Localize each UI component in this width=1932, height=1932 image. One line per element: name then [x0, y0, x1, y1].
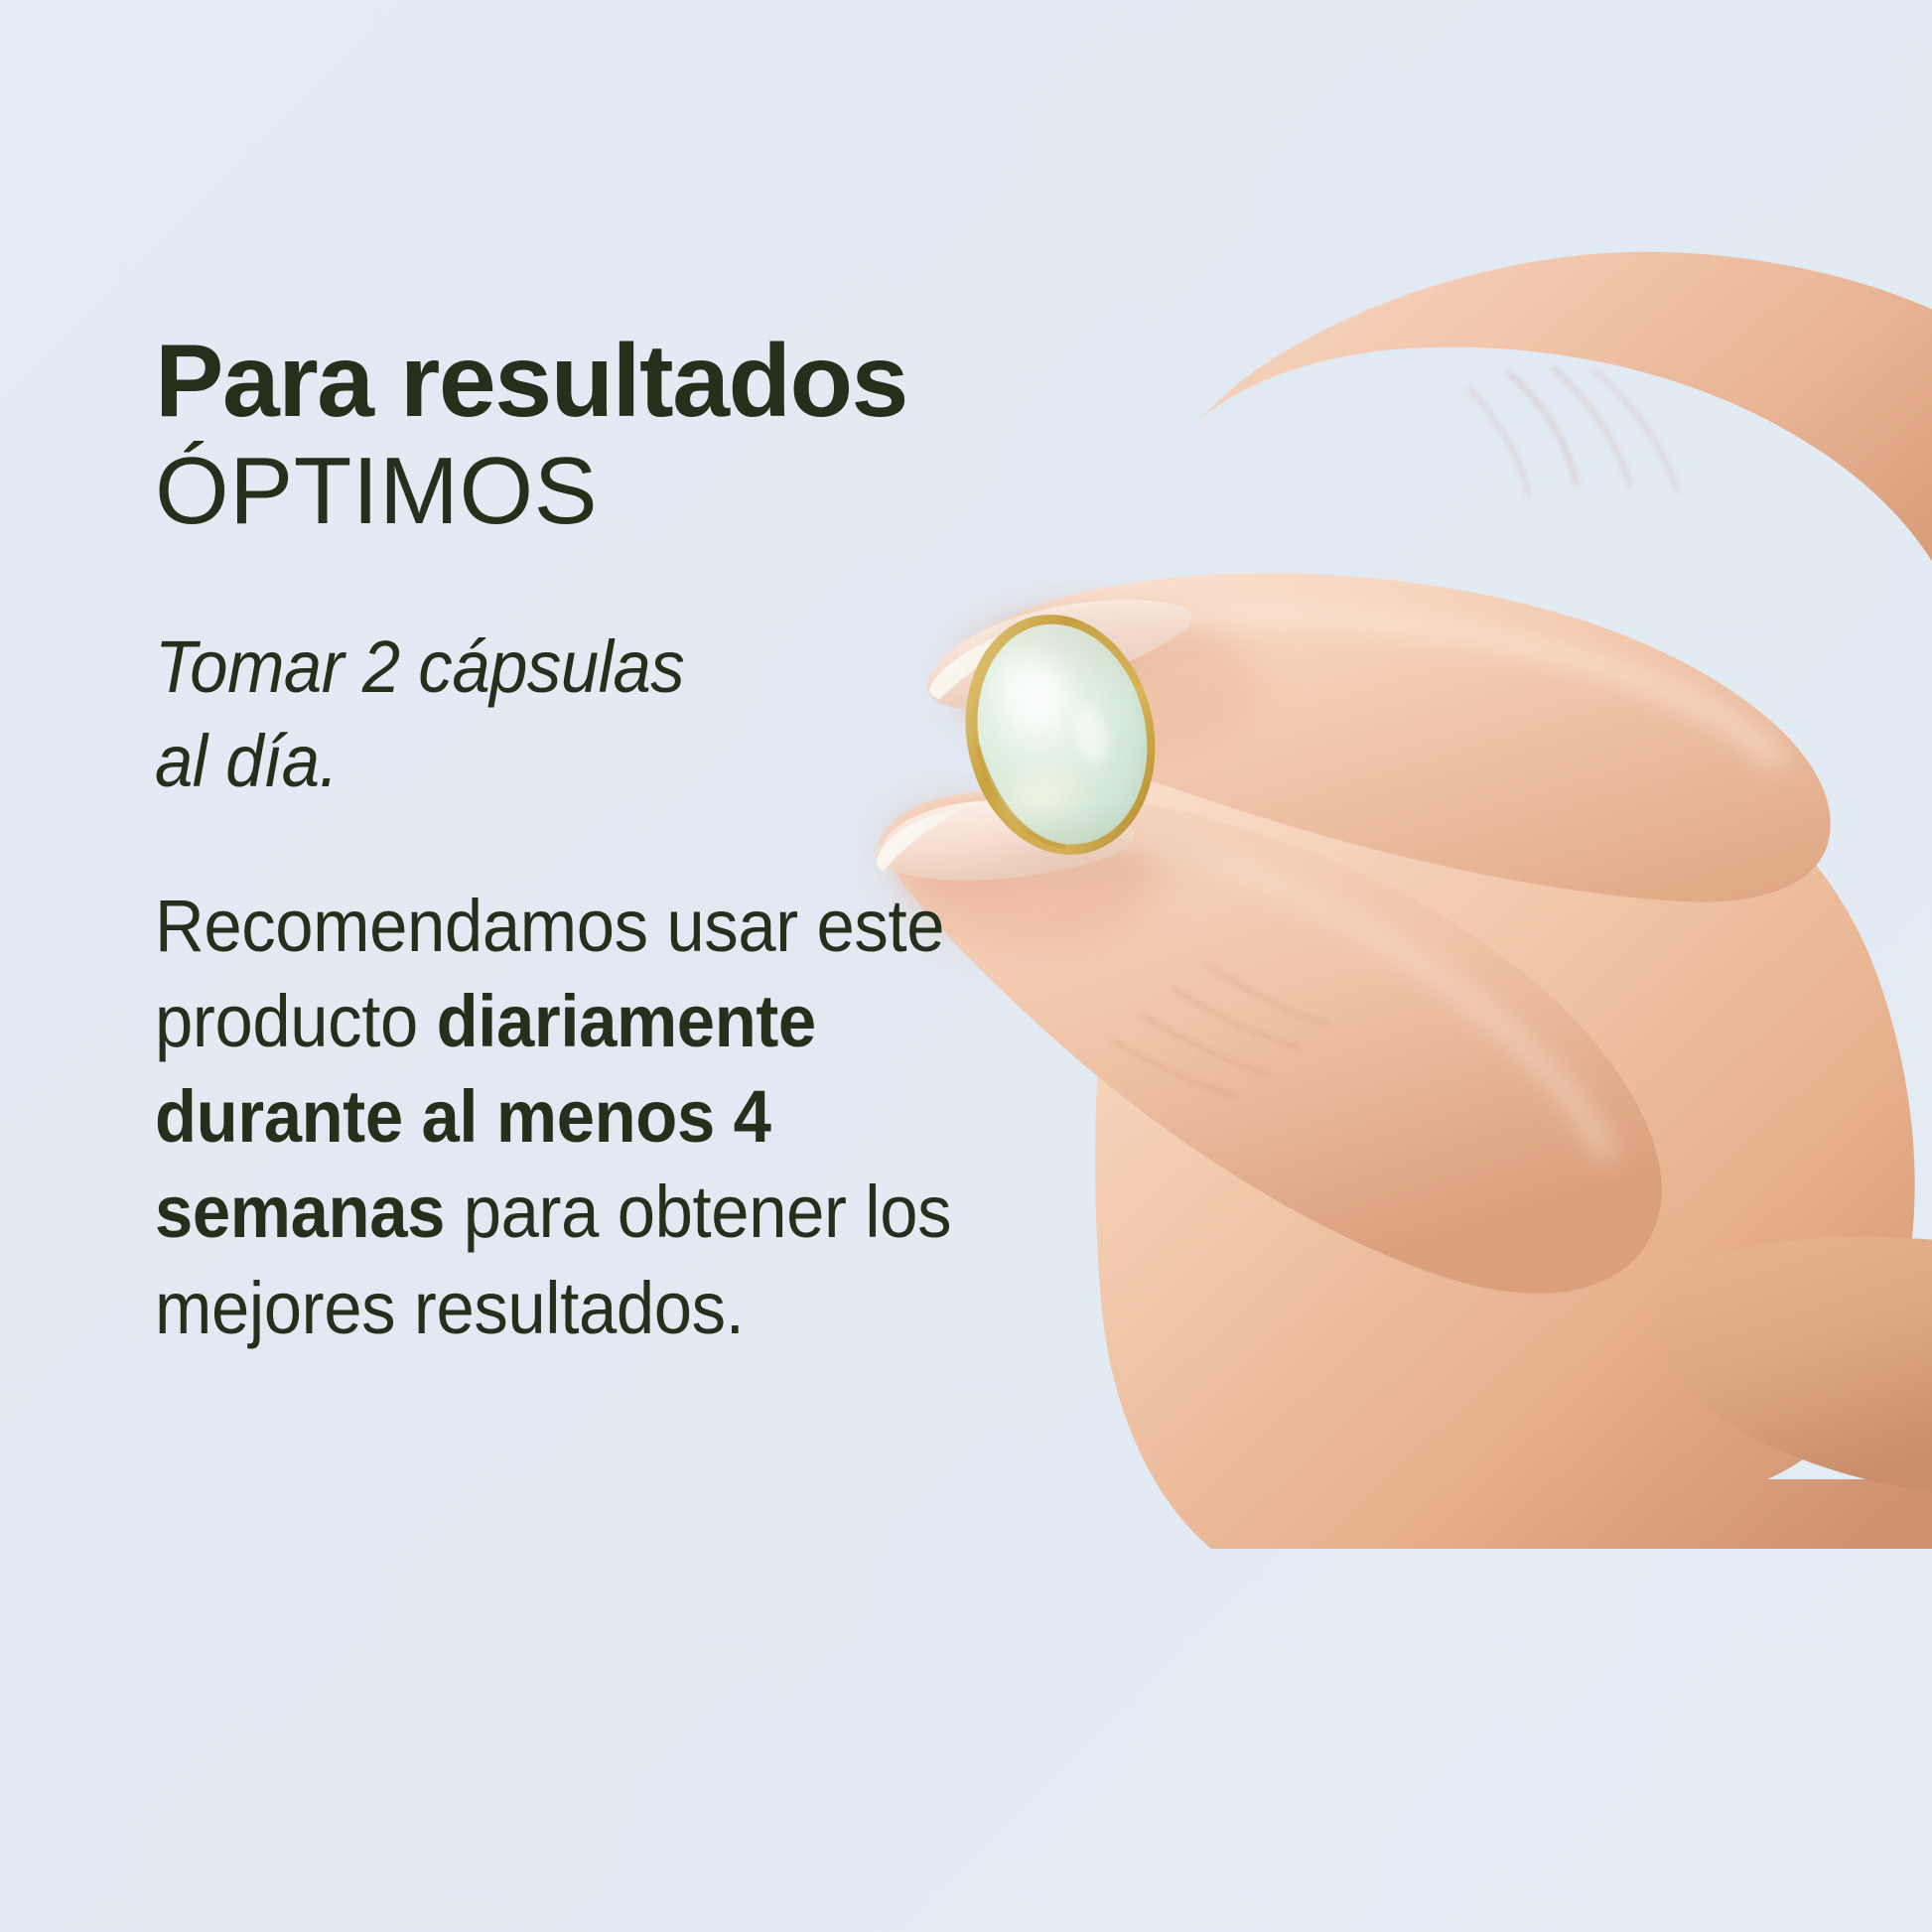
finger-middle	[1191, 252, 1932, 655]
dosage-subheading: Tomar 2 cápsulas al día.	[155, 621, 1041, 808]
hand-palm-mass	[1095, 669, 1932, 1549]
headline-line-1: Para resultados	[155, 324, 907, 439]
poster-canvas: Para resultados ÓPTIMOS Tomar 2 cápsulas…	[0, 0, 1932, 1932]
usage-paragraph: Recomendamos usar este producto diariame…	[155, 879, 1041, 1356]
headline-line-2: ÓPTIMOS	[155, 438, 598, 544]
knuckle-creases	[1469, 367, 1678, 496]
copy-block: Para resultados ÓPTIMOS Tomar 2 cápsulas…	[155, 328, 1108, 1356]
dosage-line-2: al día.	[155, 715, 1041, 809]
page-title: Para resultados ÓPTIMOS	[155, 328, 1108, 547]
dosage-line-1: Tomar 2 cápsulas	[155, 621, 1041, 715]
wrist	[1658, 1237, 1932, 1499]
